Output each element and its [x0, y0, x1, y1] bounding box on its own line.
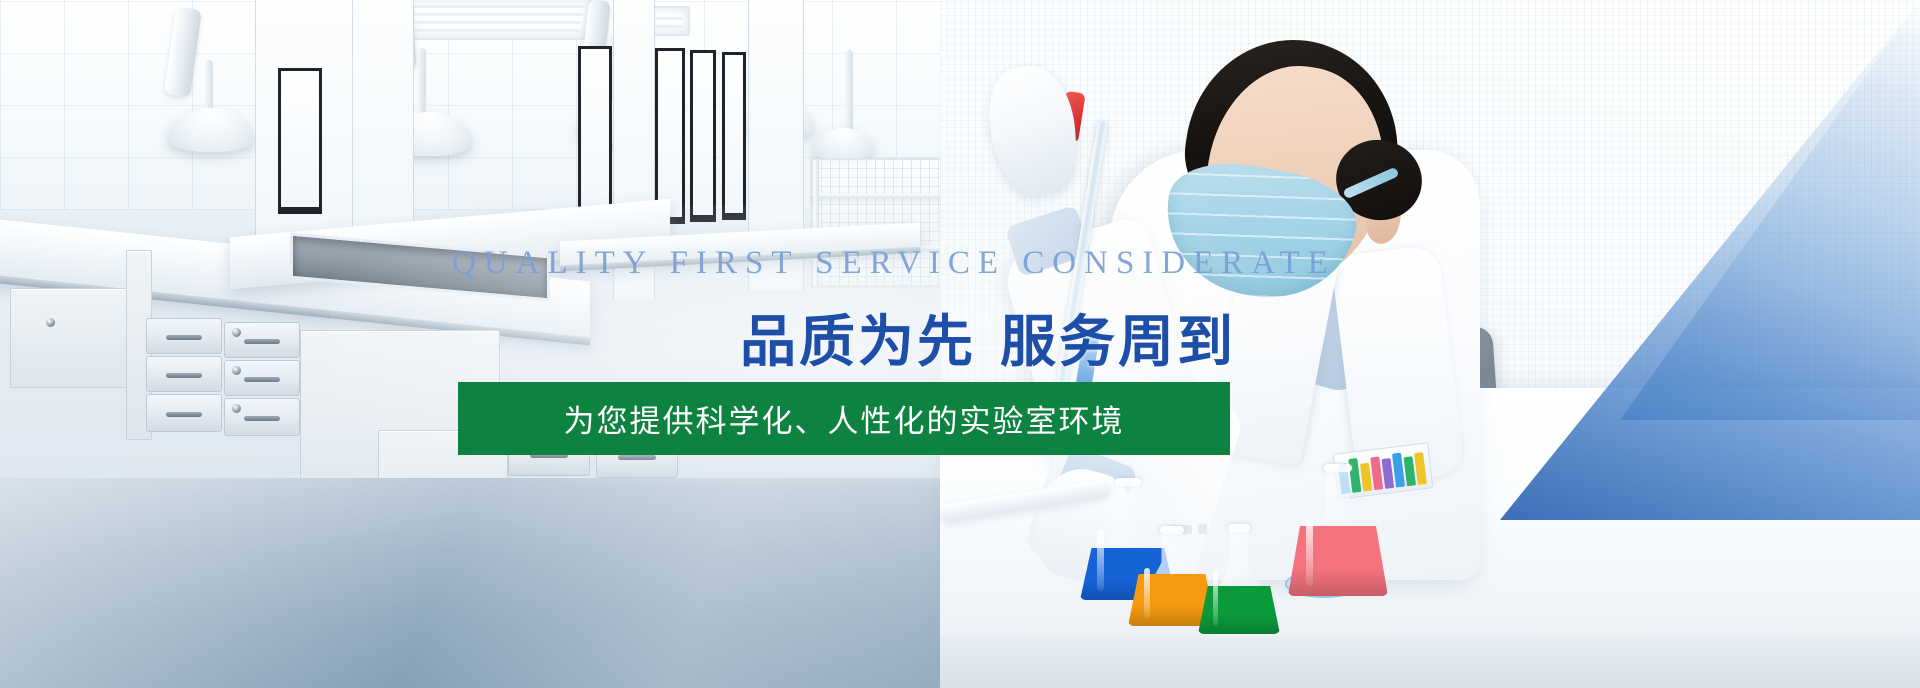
drawer-lock-icon — [232, 366, 241, 375]
flask-highlight — [1097, 529, 1104, 590]
drawer-lock-icon — [232, 404, 241, 413]
english-tagline: QUALITY FIRST SERVICE CONSIDERATE — [452, 245, 1336, 282]
window — [690, 50, 716, 222]
erlenmeyer-flask-green — [1198, 528, 1280, 634]
window — [655, 48, 685, 224]
left-cabinet — [10, 288, 128, 388]
flask-highlight — [1306, 519, 1313, 586]
ceiling-vent — [395, 0, 594, 40]
headline-part-1: 品质为先 — [740, 310, 976, 375]
exhaust-stem — [845, 50, 853, 134]
desk-front-edge — [940, 636, 1920, 688]
flask-liquid — [1198, 586, 1280, 634]
erlenmeyer-flask-pink — [1288, 468, 1388, 596]
flask-highlight — [1144, 568, 1150, 618]
green-subtitle-bar: 为您提供科学化、人性化的实验室环境 — [458, 382, 1230, 455]
headline-part-2: 服务周到 — [1000, 310, 1236, 375]
flask-highlight — [1213, 570, 1219, 625]
drawer — [146, 356, 222, 392]
window — [578, 46, 612, 226]
chinese-headline: 品质为先服务周到 — [740, 297, 1236, 378]
window — [278, 68, 322, 214]
chinese-subtitle: 为您提供科学化、人性化的实验室环境 — [564, 396, 1125, 441]
hero-banner: QUALITY FIRST SERVICE CONSIDERATE 品质为先服务… — [0, 0, 1920, 688]
window — [722, 52, 746, 220]
drawer — [146, 394, 222, 432]
drawer — [146, 318, 222, 354]
exhaust-stem — [418, 48, 426, 118]
flask-liquid — [1288, 526, 1388, 596]
cabinet-lock-icon — [46, 318, 55, 327]
pipette-tip — [1414, 452, 1427, 485]
drawer-lock-icon — [232, 328, 241, 337]
